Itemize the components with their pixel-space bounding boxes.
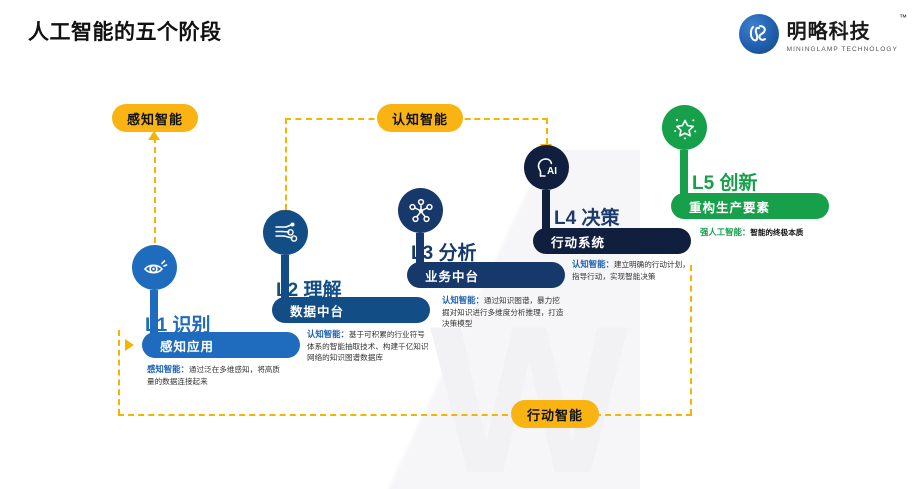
stage-desc-l3-title: 认知智能：	[442, 295, 484, 305]
stage-bar-l5[interactable]: 重构生产要素	[671, 193, 829, 219]
connector-cognition-left-h	[285, 118, 385, 120]
stage-bar-l4-label: 行动系统	[551, 232, 605, 251]
trademark-symbol: ™	[899, 13, 908, 22]
stage-label-l2: L2 理解	[276, 275, 341, 302]
stage-desc-l5-title: 强人工智能：	[700, 227, 750, 237]
network-graph-icon	[398, 188, 443, 233]
stem-l5	[680, 150, 688, 198]
stage-label-l3: L3 分析	[411, 238, 476, 265]
stage-desc-l2-title: 认知智能：	[307, 329, 349, 339]
logo-text-block: 明略科技 ™ MININGLAMP TECHNOLOGY	[787, 15, 898, 53]
badge-action-intelligence[interactable]: 行动智能	[511, 400, 599, 428]
stage-desc-l3: 认知智能：通过知识图谱，暴力挖掘对知识进行多维度分析推理，打造决策模型	[442, 295, 566, 330]
stage-bar-l3-label: 业务中台	[425, 266, 479, 285]
eye-glyph	[142, 255, 168, 281]
arrow-up-perception	[148, 131, 160, 140]
badge-perception-intelligence[interactable]: 感知智能	[112, 104, 198, 132]
stage-label-l1: L1 识别	[145, 310, 210, 337]
data-nodes-glyph	[273, 220, 299, 246]
arrow-right-l1-bar	[125, 339, 134, 351]
page-title: 人工智能的五个阶段	[28, 16, 222, 46]
stage-desc-l1-title: 感知智能：	[147, 364, 189, 374]
stage-label-l4: L4 决策	[554, 203, 619, 230]
stage-bar-l5-label: 重构生产要素	[689, 197, 770, 216]
stage-bar-l3[interactable]: 业务中台	[407, 262, 565, 288]
stage-label-l5: L5 创新	[692, 168, 757, 195]
stage-bar-l4[interactable]: 行动系统	[533, 228, 691, 254]
stage-desc-l4: 认知智能：建立明确的行动计划，指导行动，实现智能决策	[572, 259, 696, 282]
eye-icon	[132, 245, 177, 290]
ai-head-glyph: AI	[534, 155, 560, 181]
action-frame-right	[690, 265, 692, 415]
stage-desc-l2: 认知智能：基于可积累的行业符号体系的智能抽取技术、构建千亿知识网络的知识图谱数据…	[307, 329, 431, 364]
data-nodes-icon	[263, 210, 308, 255]
stage-desc-l4-title: 认知智能：	[572, 259, 614, 269]
action-frame-bottom-left	[118, 414, 518, 416]
swirl-glyph	[744, 19, 774, 49]
slide-canvas: W 人工智能的五个阶段 明略科技 ™ MININGLAMP TECHNOLOGY	[0, 0, 916, 489]
logo-name-cn-text: 明略科技	[787, 21, 871, 43]
brand-logo: 明略科技 ™ MININGLAMP TECHNOLOGY	[739, 14, 898, 54]
badge-cognition-label: 认知智能	[392, 109, 448, 128]
svg-text:AI: AI	[547, 166, 557, 177]
action-frame-bottom-right	[595, 414, 692, 416]
logo-name-cn: 明略科技 ™	[787, 15, 898, 44]
star-idea-glyph	[672, 115, 698, 141]
stage-desc-l1: 感知智能：通过泛在多维感知，将高质量的数据连接起来	[147, 364, 281, 387]
connector-cognition-left-v	[285, 118, 287, 210]
connector-cognition-right-v	[546, 118, 548, 144]
network-graph-glyph	[408, 198, 434, 224]
star-idea-icon	[662, 105, 707, 150]
stage-desc-l5-body: 智能的终极本质	[750, 228, 803, 237]
stage-desc-l5: 强人工智能：智能的终极本质	[700, 227, 860, 239]
ai-head-icon: AI	[524, 145, 569, 190]
stage-bar-l2-label: 数据中台	[290, 301, 344, 320]
stage-bar-l1-label: 感知应用	[160, 336, 214, 355]
action-frame-left	[118, 330, 120, 415]
logo-name-en: MININGLAMP TECHNOLOGY	[787, 46, 898, 53]
connector-cognition-right-h	[455, 118, 548, 120]
badge-cognition-intelligence[interactable]: 认知智能	[377, 104, 463, 132]
badge-perception-label: 感知智能	[127, 109, 183, 128]
badge-action-label: 行动智能	[527, 405, 583, 424]
ml-swirl-logo-icon	[739, 14, 779, 54]
connector-l1-to-perception	[154, 137, 156, 253]
